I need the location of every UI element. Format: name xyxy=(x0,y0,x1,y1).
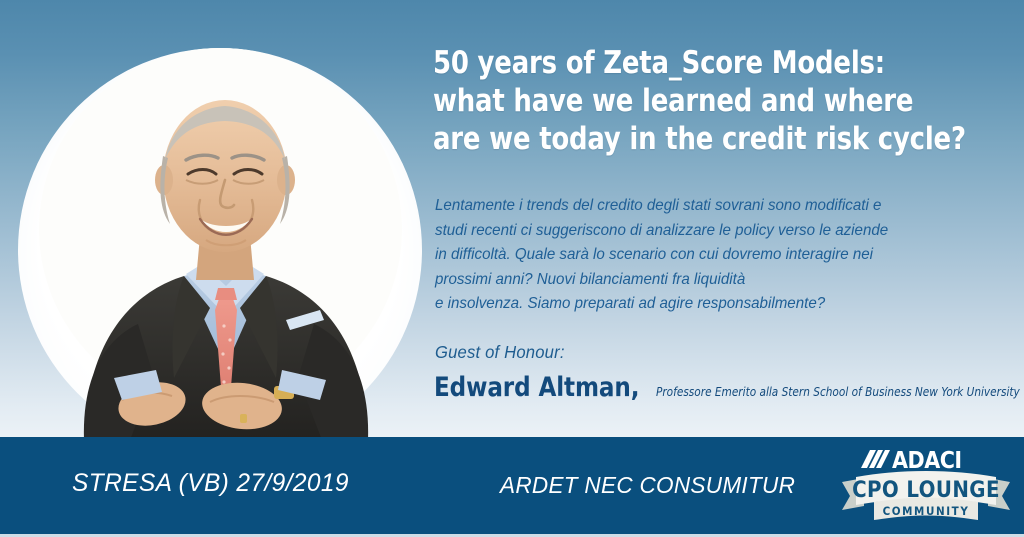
guest-affiliation: Professore Emerito alla Stern School of … xyxy=(656,384,1020,400)
logo-ribbon-main-text: CPO LOUNGE xyxy=(852,478,1000,503)
portrait xyxy=(40,48,402,440)
title-line-2: what have we learned and where xyxy=(433,82,971,120)
portrait-photo-icon xyxy=(34,48,414,440)
abstract-text: Lentamente i trends del credito degli st… xyxy=(435,194,988,317)
logo-ribbon-sub-text: COMMUNITY xyxy=(883,504,970,518)
guest-name: Edward Altman, xyxy=(434,374,639,402)
logo-icon: ADACI CPO LOUNGE COMMUNITY xyxy=(842,444,1010,530)
adaci-cpo-lounge-logo[interactable]: ADACI CPO LOUNGE COMMUNITY xyxy=(842,444,1010,530)
abstract-line-4: prossimi anni? Nuovi bilanciamenti fra l… xyxy=(435,268,988,293)
event-poster: 50 years of Zeta_Score Models: what have… xyxy=(0,0,1024,537)
event-motto: ARDET NEC CONSUMITUR xyxy=(500,471,795,499)
title-line-3: are we today in the credit risk cycle? xyxy=(433,120,971,158)
title-line-1: 50 years of Zeta_Score Models: xyxy=(433,44,971,82)
abstract-line-5: e insolvenza. Siamo preparati ad agire r… xyxy=(435,292,988,317)
abstract-line-1: Lentamente i trends del credito degli st… xyxy=(435,194,988,219)
event-place-date: STRESA (VB) 27/9/2019 xyxy=(72,468,349,498)
guest-of-honour: Edward Altman, Professore Emerito alla S… xyxy=(434,374,1024,402)
guest-of-honour-label: Guest of Honour: xyxy=(435,341,565,363)
abstract-line-2: studi recenti ci suggeriscono di analizz… xyxy=(435,219,988,244)
abstract-line-3: in difficoltà. Quale sarà lo scenario co… xyxy=(435,243,988,268)
logo-brand-text: ADACI xyxy=(892,448,962,474)
poster-content: 50 years of Zeta_Score Models: what have… xyxy=(433,0,1011,437)
page-title: 50 years of Zeta_Score Models: what have… xyxy=(433,44,971,158)
